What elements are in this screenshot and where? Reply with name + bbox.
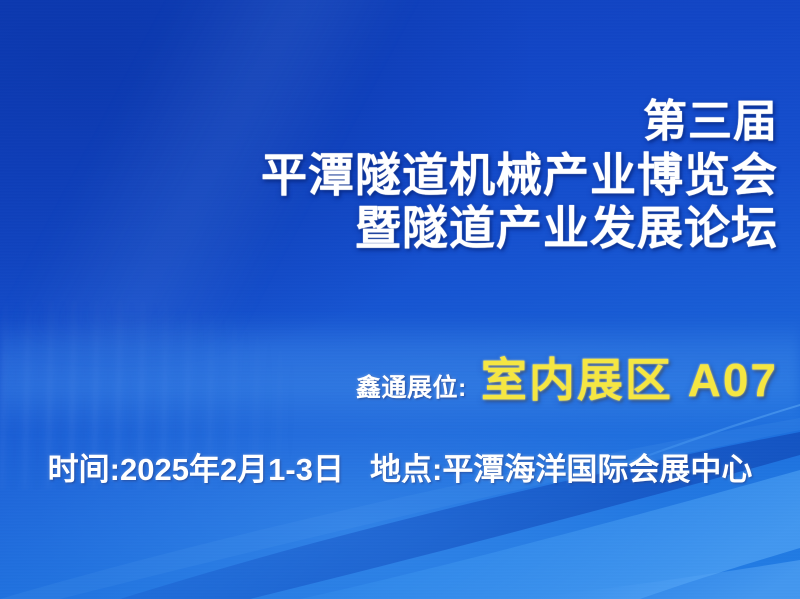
booth-label: 鑫通展位:	[356, 368, 467, 404]
event-poster: 第三届 平潭隧道机械产业博览会 暨隧道产业发展论坛 鑫通展位: 室内展区 A07…	[0, 0, 800, 599]
event-date: 时间:2025年2月1-3日	[48, 444, 344, 489]
poster-content: 第三届 平潭隧道机械产业博览会 暨隧道产业发展论坛 鑫通展位: 室内展区 A07…	[0, 0, 800, 599]
booth-number: 室内展区 A07	[481, 344, 778, 410]
booth-info-row: 鑫通展位: 室内展区 A07	[18, 344, 778, 410]
title-line-expo-name: 平潭隧道机械产业博览会	[18, 152, 778, 198]
title-line-edition: 第三届	[18, 100, 778, 144]
event-meta-row: 时间:2025年2月1-3日 地点:平潭海洋国际会展中心	[0, 444, 800, 489]
event-venue: 地点:平潭海洋国际会展中心	[370, 444, 752, 489]
title-line-forum-name: 暨隧道产业发展论坛	[18, 205, 778, 251]
event-title-block: 第三届 平潭隧道机械产业博览会 暨隧道产业发展论坛	[18, 100, 778, 251]
